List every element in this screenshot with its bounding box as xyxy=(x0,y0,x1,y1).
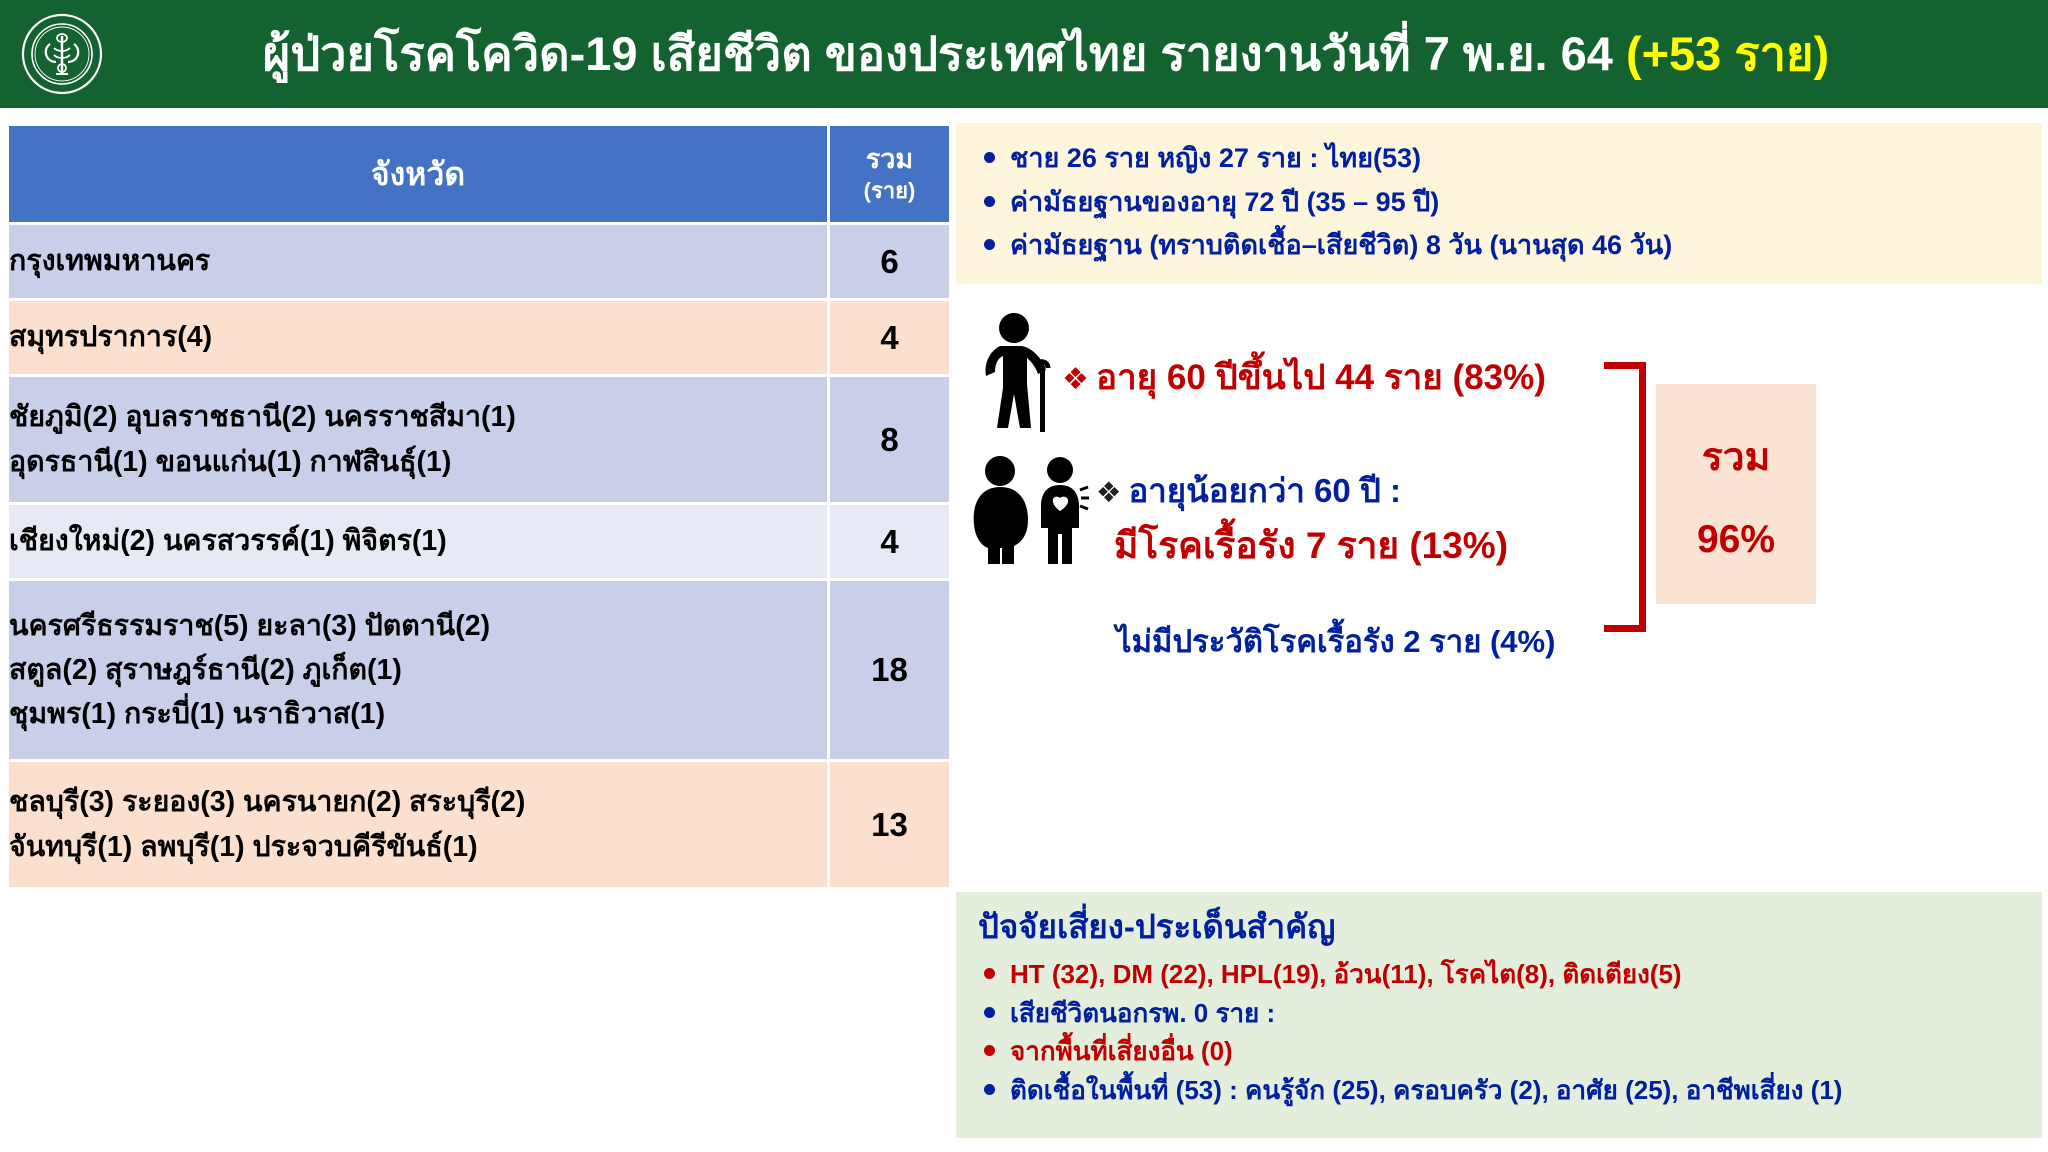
risk-factor-text: เสียชีวิตนอกรพ. 0 ราย : xyxy=(1010,998,1275,1028)
no-chronic-disease-stat: ไม่มีประวัติโรคเรื้อรัง 2 ราย (4%) xyxy=(1116,616,1555,666)
combined-total-value: 96% xyxy=(1697,518,1775,562)
red-bracket-decoration xyxy=(1604,362,1646,632)
list-item: จากพื้นที่เสี่ยงอื่น (0) xyxy=(956,1032,2042,1070)
age-60-plus-stat: ❖อายุ 60 ปีขึ้นไป 44 ราย (83%) xyxy=(1062,350,1546,405)
summary-bullet-text: ค่ามัธยฐานของอายุ 72 ปี (35 – 95 ปี) xyxy=(1010,187,1439,217)
province-line: เชียงใหม่(2) นครสวรรค์(1) พิจิตร(1) xyxy=(9,519,827,563)
column-header-total-label: รวม xyxy=(866,144,913,174)
cell-total: 4 xyxy=(830,505,949,578)
risk-factor-text: HT (32), DM (22), HPL(19), อ้วน(11), โรค… xyxy=(1010,959,1682,989)
page-title: ผู้ป่วยโรคโควิด-19 เสียชีวิต ของประเทศไท… xyxy=(104,29,2048,78)
bullet-dot-icon xyxy=(984,1045,995,1056)
column-header-province: จังหวัด xyxy=(9,126,827,222)
table-row: ชัยภูมิ(2) อุบลราชธานี(2) นครราชสีมา(1) … xyxy=(9,377,949,502)
diamond-bullet-icon: ❖ xyxy=(1062,362,1089,397)
table-row: กรุงเทพมหานคร 6 xyxy=(9,225,949,298)
summary-bullet-text: ชาย 26 ราย หญิง 27 ราย : ไทย(53) xyxy=(1010,143,1421,173)
province-line: จันทบุรี(1) ลพบุรี(1) ประจวบคีรีขันธ์(1) xyxy=(9,825,827,869)
province-line: นครศรีธรรมราช(5) ยะลา(3) ปัตตานี(2) xyxy=(9,604,827,648)
list-item: ชาย 26 ราย หญิง 27 ราย : ไทย(53) xyxy=(956,137,2042,181)
summary-bullet-text: ค่ามัธยฐาน (ทราบติดเชื้อ–เสียชีวิต) 8 วั… xyxy=(1010,230,1672,260)
column-header-total: รวม (ราย) xyxy=(830,126,949,222)
cell-total: 13 xyxy=(830,762,949,887)
elderly-person-with-cane-icon xyxy=(970,310,1058,438)
cell-province: ชลบุรี(3) ระยอง(3) นครนายก(2) สระบุรี(2)… xyxy=(9,762,827,887)
province-line: สมุทรปราการ(4) xyxy=(9,315,827,359)
diamond-bullet-icon: ❖ xyxy=(1096,476,1121,510)
province-line: กรุงเทพมหานคร xyxy=(9,239,827,283)
province-line: อุดรธานี(1) ขอนแก่น(1) กาฬสินธุ์(1) xyxy=(9,440,827,484)
page-title-main: ผู้ป่วยโรคโควิด-19 เสียชีวิต ของประเทศไท… xyxy=(263,27,1626,80)
cell-total: 18 xyxy=(830,581,949,759)
age-under-60-label-text: อายุน้อยกว่า 60 ปี : xyxy=(1128,472,1401,509)
list-item: ค่ามัธยฐาน (ทราบติดเชื้อ–เสียชีวิต) 8 วั… xyxy=(956,224,2042,268)
table-row: สมุทรปราการ(4) 4 xyxy=(9,301,949,374)
table-row: ชลบุรี(3) ระยอง(3) นครนายก(2) สระบุรี(2)… xyxy=(9,762,949,887)
list-item: HT (32), DM (22), HPL(19), อ้วน(11), โรค… xyxy=(956,955,2042,993)
bullet-dot-icon xyxy=(984,196,995,207)
age-statistics-panel: ❖อายุ 60 ปีขึ้นไป 44 ราย (83%) ❖อายุน้อย… xyxy=(956,284,2042,704)
summary-panel: ชาย 26 ราย หญิง 27 ราย : ไทย(53) ค่ามัธย… xyxy=(956,123,2042,284)
page-title-delta: (+53 ราย) xyxy=(1626,27,1829,80)
combined-total-label: รวม xyxy=(1702,426,1771,488)
province-line: ชลบุรี(3) ระยอง(3) นครนายก(2) สระบุรี(2) xyxy=(9,780,827,824)
age-60-plus-stat-text: อายุ 60 ปีขึ้นไป 44 ราย (83%) xyxy=(1096,358,1546,397)
risk-factor-text: ติดเชื้อในพื้นที่ (53) : คนรู้จัก (25), … xyxy=(1010,1075,1842,1105)
list-item: เสียชีวิตนอกรพ. 0 ราย : xyxy=(956,994,2042,1032)
risk-factors-panel: ปัจจัยเสี่ยง-ประเด็นสำคัญ HT (32), DM (2… xyxy=(956,892,2042,1138)
column-header-total-unit: (ราย) xyxy=(830,177,949,205)
ministry-of-public-health-emblem-icon xyxy=(20,12,104,96)
bullet-dot-icon xyxy=(984,968,995,979)
obese-and-chest-pain-person-icon xyxy=(962,454,1090,566)
cell-total: 8 xyxy=(830,377,949,502)
list-item: ติดเชื้อในพื้นที่ (53) : คนรู้จัก (25), … xyxy=(956,1071,2042,1109)
combined-total-box: รวม 96% xyxy=(1656,384,1816,604)
summary-bullet-list: ชาย 26 ราย หญิง 27 ราย : ไทย(53) ค่ามัธย… xyxy=(956,137,2042,268)
table-row: เชียงใหม่(2) นครสวรรค์(1) พิจิตร(1) 4 xyxy=(9,505,949,578)
province-line: ชัยภูมิ(2) อุบลราชธานี(2) นครราชสีมา(1) xyxy=(9,395,827,439)
bullet-dot-icon xyxy=(984,239,995,250)
right-column: ชาย 26 ราย หญิง 27 ราย : ไทย(53) ค่ามัธย… xyxy=(956,123,2042,1133)
cell-province: นครศรีธรรมราช(5) ยะลา(3) ปัตตานี(2) สตูล… xyxy=(9,581,827,759)
cell-province: เชียงใหม่(2) นครสวรรค์(1) พิจิตร(1) xyxy=(9,505,827,578)
bullet-dot-icon xyxy=(984,1007,995,1018)
province-death-table: จังหวัด รวม (ราย) กรุงเทพมหานคร 6 สมุทรป… xyxy=(6,123,952,890)
cell-total: 4 xyxy=(830,301,949,374)
risk-factors-title: ปัจจัยเสี่ยง-ประเด็นสำคัญ xyxy=(978,900,2042,953)
risk-factor-text: จากพื้นที่เสี่ยงอื่น (0) xyxy=(1010,1036,1233,1066)
bullet-dot-icon xyxy=(984,152,995,163)
table-row: นครศรีธรรมราช(5) ยะลา(3) ปัตตานี(2) สตูล… xyxy=(9,581,949,759)
cell-province: สมุทรปราการ(4) xyxy=(9,301,827,374)
page-header: ผู้ป่วยโรคโควิด-19 เสียชีวิต ของประเทศไท… xyxy=(0,0,2048,108)
list-item: ค่ามัธยฐานของอายุ 72 ปี (35 – 95 ปี) xyxy=(956,181,2042,225)
province-table-container: จังหวัด รวม (ราย) กรุงเทพมหานคร 6 สมุทรป… xyxy=(6,123,946,890)
risk-factors-list: HT (32), DM (22), HPL(19), อ้วน(11), โรค… xyxy=(956,955,2042,1109)
cell-total: 6 xyxy=(830,225,949,298)
table-header-row: จังหวัด รวม (ราย) xyxy=(9,126,949,222)
province-line: สตูล(2) สุราษฎร์ธานี(2) ภูเก็ต(1) xyxy=(9,648,827,692)
chronic-disease-stat: มีโรคเรื้อรัง 7 ราย (13%) xyxy=(1114,516,1508,575)
cell-province: ชัยภูมิ(2) อุบลราชธานี(2) นครราชสีมา(1) … xyxy=(9,377,827,502)
province-line: ชุมพร(1) กระบี่(1) นราธิวาส(1) xyxy=(9,692,827,736)
cell-province: กรุงเทพมหานคร xyxy=(9,225,827,298)
age-under-60-label: ❖อายุน้อยกว่า 60 ปี : xyxy=(1096,464,1401,517)
bullet-dot-icon xyxy=(984,1084,995,1095)
